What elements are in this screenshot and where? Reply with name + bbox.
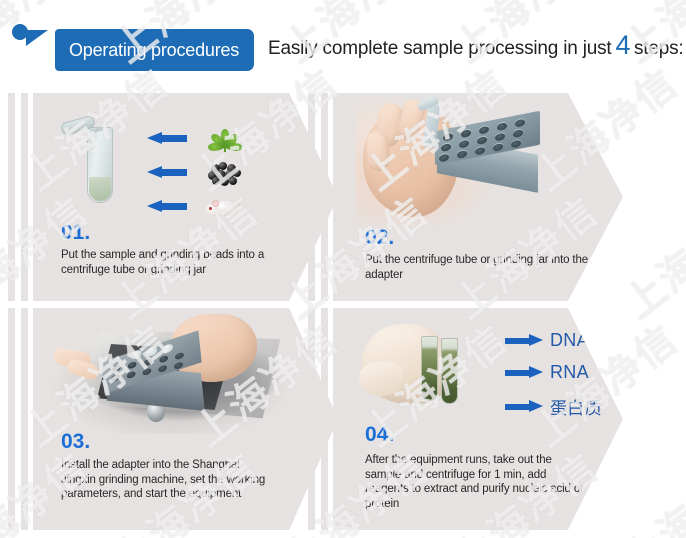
tag-tail-shape [26, 30, 48, 46]
sample-arrow-row-beads [147, 157, 247, 187]
sample-vial-icon [441, 338, 458, 404]
arrow-right-icon [505, 400, 543, 413]
accent-stripe [308, 308, 315, 530]
step-description: After the equipment runs, take out the s… [365, 453, 590, 511]
operating-procedures-label: Operating procedures [69, 40, 239, 61]
sample-arrow-row-mouse [147, 191, 247, 221]
arrow-left-icon [147, 200, 187, 213]
headline-suffix: steps: [634, 38, 684, 60]
step-description: Put the centrifuge tube or grinding jar … [365, 253, 595, 282]
output-row-rna: RNA [505, 362, 589, 383]
step-card-body: 01. Put the sample and grinding beads in… [33, 93, 338, 301]
step-number: 02. [365, 226, 394, 250]
step-card-body: 02. Put the centrifuge tube or grinding … [333, 93, 623, 301]
accent-stripe [321, 308, 328, 530]
sample-vial-icon [421, 336, 438, 402]
output-label-protein: 蛋白质 [550, 394, 602, 419]
step-description: Install the adapter into the Shanghai Ji… [61, 458, 276, 502]
leaf-icon [203, 123, 247, 153]
output-row-dna: DNA [505, 330, 589, 351]
step-number: 03. [61, 430, 90, 454]
arrow-right-icon [505, 334, 543, 347]
adapter-block-icon [435, 121, 540, 185]
headline-prefix: Easily complete sample processing in jus… [268, 38, 611, 60]
step-03-illustration [51, 316, 316, 434]
accent-stripe [8, 308, 15, 530]
page-header: Operating procedures Easily complete sam… [0, 0, 686, 86]
step-01-illustration [55, 105, 305, 215]
step-number: 01. [61, 221, 90, 245]
grinding-beads-icon [203, 157, 247, 187]
arrow-right-icon [505, 366, 543, 379]
step-card-body: DNA RNA 蛋白质 04. After the equipment runs… [333, 308, 623, 530]
steps-grid: 01. Put the sample and grinding beads in… [0, 86, 686, 538]
accent-stripe [8, 93, 15, 301]
step-card-body: 03. Install the adapter into the Shangha… [33, 308, 338, 530]
step-card-01: 01. Put the sample and grinding beads in… [8, 93, 338, 301]
output-label-rna: RNA [550, 362, 589, 383]
accent-stripe [21, 93, 28, 301]
step-description: Put the sample and grinding beads into a… [61, 248, 291, 277]
headline-number: 4 [611, 30, 634, 61]
accent-stripe [308, 93, 315, 301]
output-label-dna: DNA [550, 330, 589, 351]
mouse-icon [203, 191, 247, 221]
headline: Easily complete sample processing in jus… [268, 30, 684, 72]
step-04-illustration: DNA RNA 蛋白质 [353, 314, 613, 424]
output-row-protein: 蛋白质 [505, 394, 602, 419]
step-card-02: 02. Put the centrifuge tube or grinding … [308, 93, 686, 301]
centrifuge-tube-icon [83, 119, 117, 205]
step-card-03: 03. Install the adapter into the Shangha… [8, 308, 338, 530]
adapter-block-icon [100, 341, 206, 413]
step-02-illustration [355, 97, 615, 227]
step-number: 04. [365, 423, 394, 447]
step-card-04: DNA RNA 蛋白质 04. After the equipment runs… [308, 308, 686, 530]
accent-stripe [321, 93, 328, 301]
sample-arrow-row-leaf [147, 123, 247, 153]
arrow-left-icon [147, 166, 187, 179]
operating-procedures-tag: Operating procedures [55, 29, 254, 71]
arrow-left-icon [147, 132, 187, 145]
accent-stripe [21, 308, 28, 530]
